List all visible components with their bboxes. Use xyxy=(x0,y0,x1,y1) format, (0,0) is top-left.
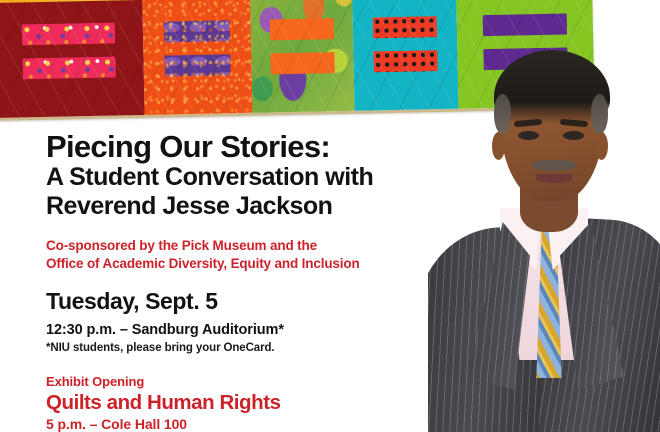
quilt-block-dark-red xyxy=(0,0,145,118)
subtitle-line-2: Reverend Jesse Jackson xyxy=(46,192,466,221)
event-poster: Piecing Our Stories: A Student Conversat… xyxy=(0,0,660,432)
event-footnote: *NIU students, please bring your OneCard… xyxy=(46,342,466,354)
subtitle-line-1: A Student Conversation with xyxy=(46,163,466,192)
sponsor-text: Co-sponsored by the Pick Museum and the … xyxy=(46,237,466,273)
quilt-bar-upper xyxy=(21,22,114,45)
page-title: Piecing Our Stories: xyxy=(46,130,466,163)
poster-text-block: Piecing Our Stories: A Student Conversat… xyxy=(46,130,466,432)
hair-temple-right xyxy=(591,94,608,134)
event-date: Tuesday, Sept. 5 xyxy=(46,289,466,314)
quilt-bar-lower xyxy=(271,52,335,74)
mouth xyxy=(536,174,572,183)
sponsor-line-1: Co-sponsored by the Pick Museum and the xyxy=(46,238,317,253)
eye-left xyxy=(518,131,539,140)
mustache xyxy=(532,160,576,171)
eye-right xyxy=(563,131,584,140)
exhibit-time-venue: 5 p.m. – Cole Hall 100 xyxy=(46,416,466,432)
ear-right xyxy=(595,132,608,160)
exhibit-label: Exhibit Opening xyxy=(46,374,466,389)
quilt-bar-upper xyxy=(163,20,230,42)
sponsor-line-2: Office of Academic Diversity, Equity and… xyxy=(46,256,360,271)
quilt-bar-upper xyxy=(270,18,334,40)
event-time-venue: 12:30 p.m. – Sandburg Auditorium* xyxy=(46,322,466,338)
hair-temple-left xyxy=(494,94,511,134)
ear-left xyxy=(492,132,505,160)
quilt-block-orange xyxy=(142,0,253,115)
quilt-block-floral xyxy=(250,0,355,113)
quilt-bar-lower xyxy=(164,54,231,76)
quilt-bar-lower xyxy=(22,56,115,79)
exhibit-title: Quilts and Human Rights xyxy=(46,392,466,415)
